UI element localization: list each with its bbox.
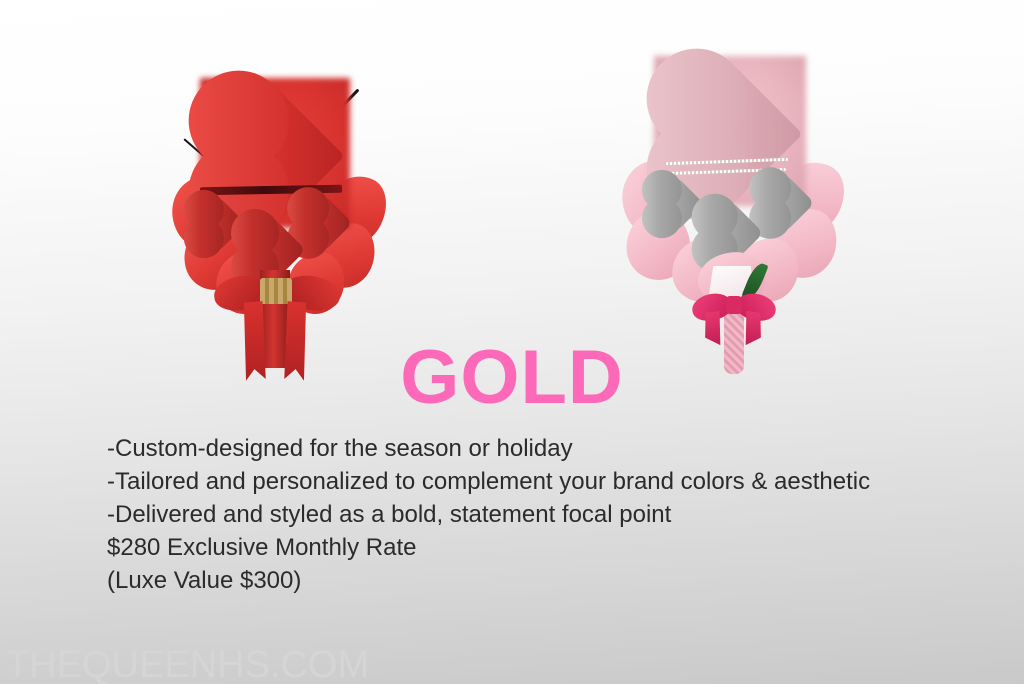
bow-knot bbox=[260, 278, 292, 304]
promo-slide: GOLD -Custom-designed for the season or … bbox=[0, 0, 1024, 684]
bow-knot bbox=[726, 296, 742, 314]
list-item: -Custom-designed for the season or holid… bbox=[107, 432, 967, 465]
list-item: -Delivered and styled as a bold, stateme… bbox=[107, 498, 967, 531]
list-item: -Tailored and personalized to complement… bbox=[107, 465, 967, 498]
product-image-pink-heart-bouquet bbox=[620, 54, 844, 354]
value-line: (Luxe Value $300) bbox=[107, 564, 967, 597]
page-title: GOLD bbox=[0, 340, 1024, 416]
product-image-red-heart-bouquet bbox=[176, 74, 380, 374]
price-line: $280 Exclusive Monthly Rate bbox=[107, 531, 967, 564]
feature-list: -Custom-designed for the season or holid… bbox=[107, 432, 967, 597]
watermark: THEQUEENHS.COM bbox=[6, 646, 369, 684]
